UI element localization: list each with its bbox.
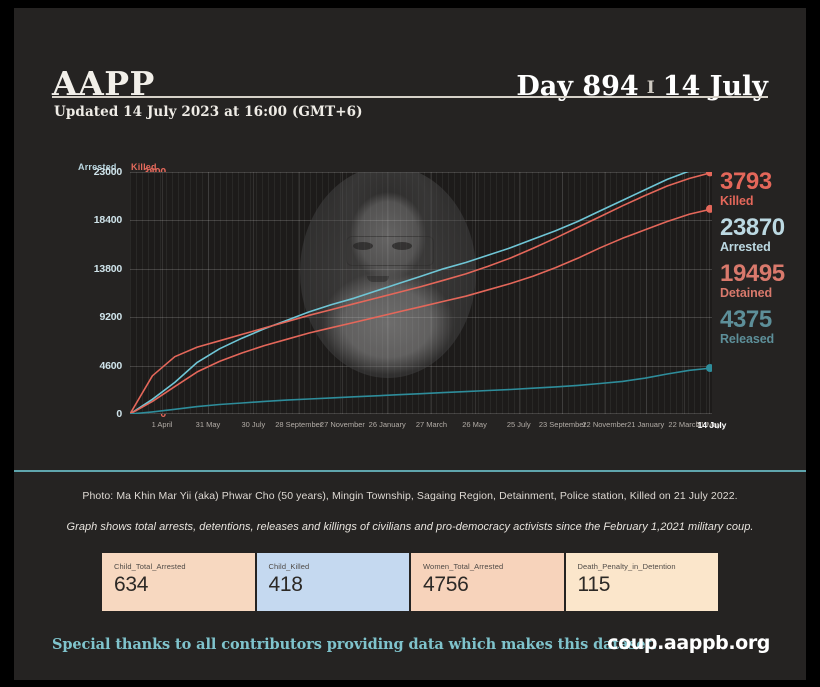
y-tick-left: 0	[62, 409, 122, 420]
x-tick-label: 31 May	[196, 420, 221, 429]
series-line-arrested	[130, 172, 712, 414]
x-tick-label: 27 March	[416, 420, 447, 429]
stat-card-title: Child_Killed	[269, 562, 398, 571]
series-line-detained	[130, 209, 712, 414]
value-item-released: 4375Released	[720, 308, 806, 347]
stat-card[interactable]: Death_Penalty_in_Detention115	[566, 553, 719, 611]
series-endpoint-killed	[706, 172, 712, 176]
value-item-killed: 3793Killed	[720, 170, 806, 209]
value-number-detained: 19495	[720, 262, 806, 286]
x-tick-label: 14 July	[698, 420, 727, 430]
y-tick-left: 4600	[62, 361, 122, 372]
x-tick-label: 28 September	[275, 420, 322, 429]
series-line-killed	[130, 172, 712, 414]
stat-card-row: Child_Total_Arrested634Child_Killed418Wo…	[102, 553, 718, 611]
x-tick-label: 23 September	[539, 420, 586, 429]
chart-container: Arrested Killed 046009200138001840023000…	[52, 148, 768, 448]
series-line-released	[130, 368, 712, 414]
value-label-released: Released	[720, 332, 806, 347]
value-item-detained: 19495Detained	[720, 262, 806, 301]
value-item-arrested: 23870Arrested	[720, 216, 806, 255]
series-endpoint-detained	[706, 205, 712, 213]
summary-values: 3793Killed23870Arrested19495Detained4375…	[720, 170, 806, 354]
thanks-message: Special thanks to all contributors provi…	[52, 636, 657, 653]
website-url[interactable]: coup.aappb.org	[607, 632, 770, 654]
poster-canvas: AAPP Day 894 I 14 July Updated 14 July 2…	[14, 8, 806, 680]
series-lines	[130, 172, 712, 414]
y-tick-left: 23000	[62, 167, 122, 178]
x-tick-label: 26 May	[462, 420, 487, 429]
x-tick-label: 30 July	[241, 420, 265, 429]
poster-header: AAPP Day 894 I 14 July	[52, 38, 768, 100]
stat-card-title: Child_Total_Arrested	[114, 562, 243, 571]
value-number-released: 4375	[720, 308, 806, 332]
x-tick-label: 22 November	[582, 420, 627, 429]
x-tick-label: 26 January	[369, 420, 406, 429]
updated-timestamp: Updated 14 July 2023 at 16:00 (GMT+6)	[54, 104, 363, 120]
header-divider	[52, 96, 768, 98]
series-endpoint-released	[706, 364, 712, 372]
value-number-arrested: 23870	[720, 216, 806, 240]
header-separator: I	[647, 80, 655, 97]
y-tick-left: 18400	[62, 215, 122, 226]
x-tick-label: 22 March	[668, 420, 699, 429]
value-label-detained: Detained	[720, 286, 806, 301]
photo-caption: Photo: Ma Khin Mar Yii (aka) Phwar Cho (…	[14, 490, 806, 502]
stat-card-value: 634	[114, 574, 243, 595]
y-tick-left: 9200	[62, 312, 122, 323]
graph-note: Graph shows total arrests, detentions, r…	[14, 521, 806, 533]
stat-card[interactable]: Women_Total_Arrested4756	[411, 553, 564, 611]
stat-card-value: 115	[578, 574, 707, 595]
value-label-arrested: Arrested	[720, 240, 806, 255]
stat-card-value: 4756	[423, 574, 552, 595]
x-tick-label: 21 January	[627, 420, 664, 429]
x-tick-label: 27 November	[320, 420, 365, 429]
x-tick-label: 25 July	[507, 420, 531, 429]
stat-card[interactable]: Child_Killed418	[257, 553, 410, 611]
y-tick-left: 13800	[62, 264, 122, 275]
value-label-killed: Killed	[720, 194, 806, 209]
value-number-killed: 3793	[720, 170, 806, 194]
plot-area	[130, 172, 712, 414]
stat-card-title: Women_Total_Arrested	[423, 562, 552, 571]
section-divider	[14, 470, 806, 472]
stat-card[interactable]: Child_Total_Arrested634	[102, 553, 255, 611]
stat-card-title: Death_Penalty_in_Detention	[578, 562, 707, 571]
stat-card-value: 418	[269, 574, 398, 595]
x-tick-label: 1 April	[152, 420, 173, 429]
